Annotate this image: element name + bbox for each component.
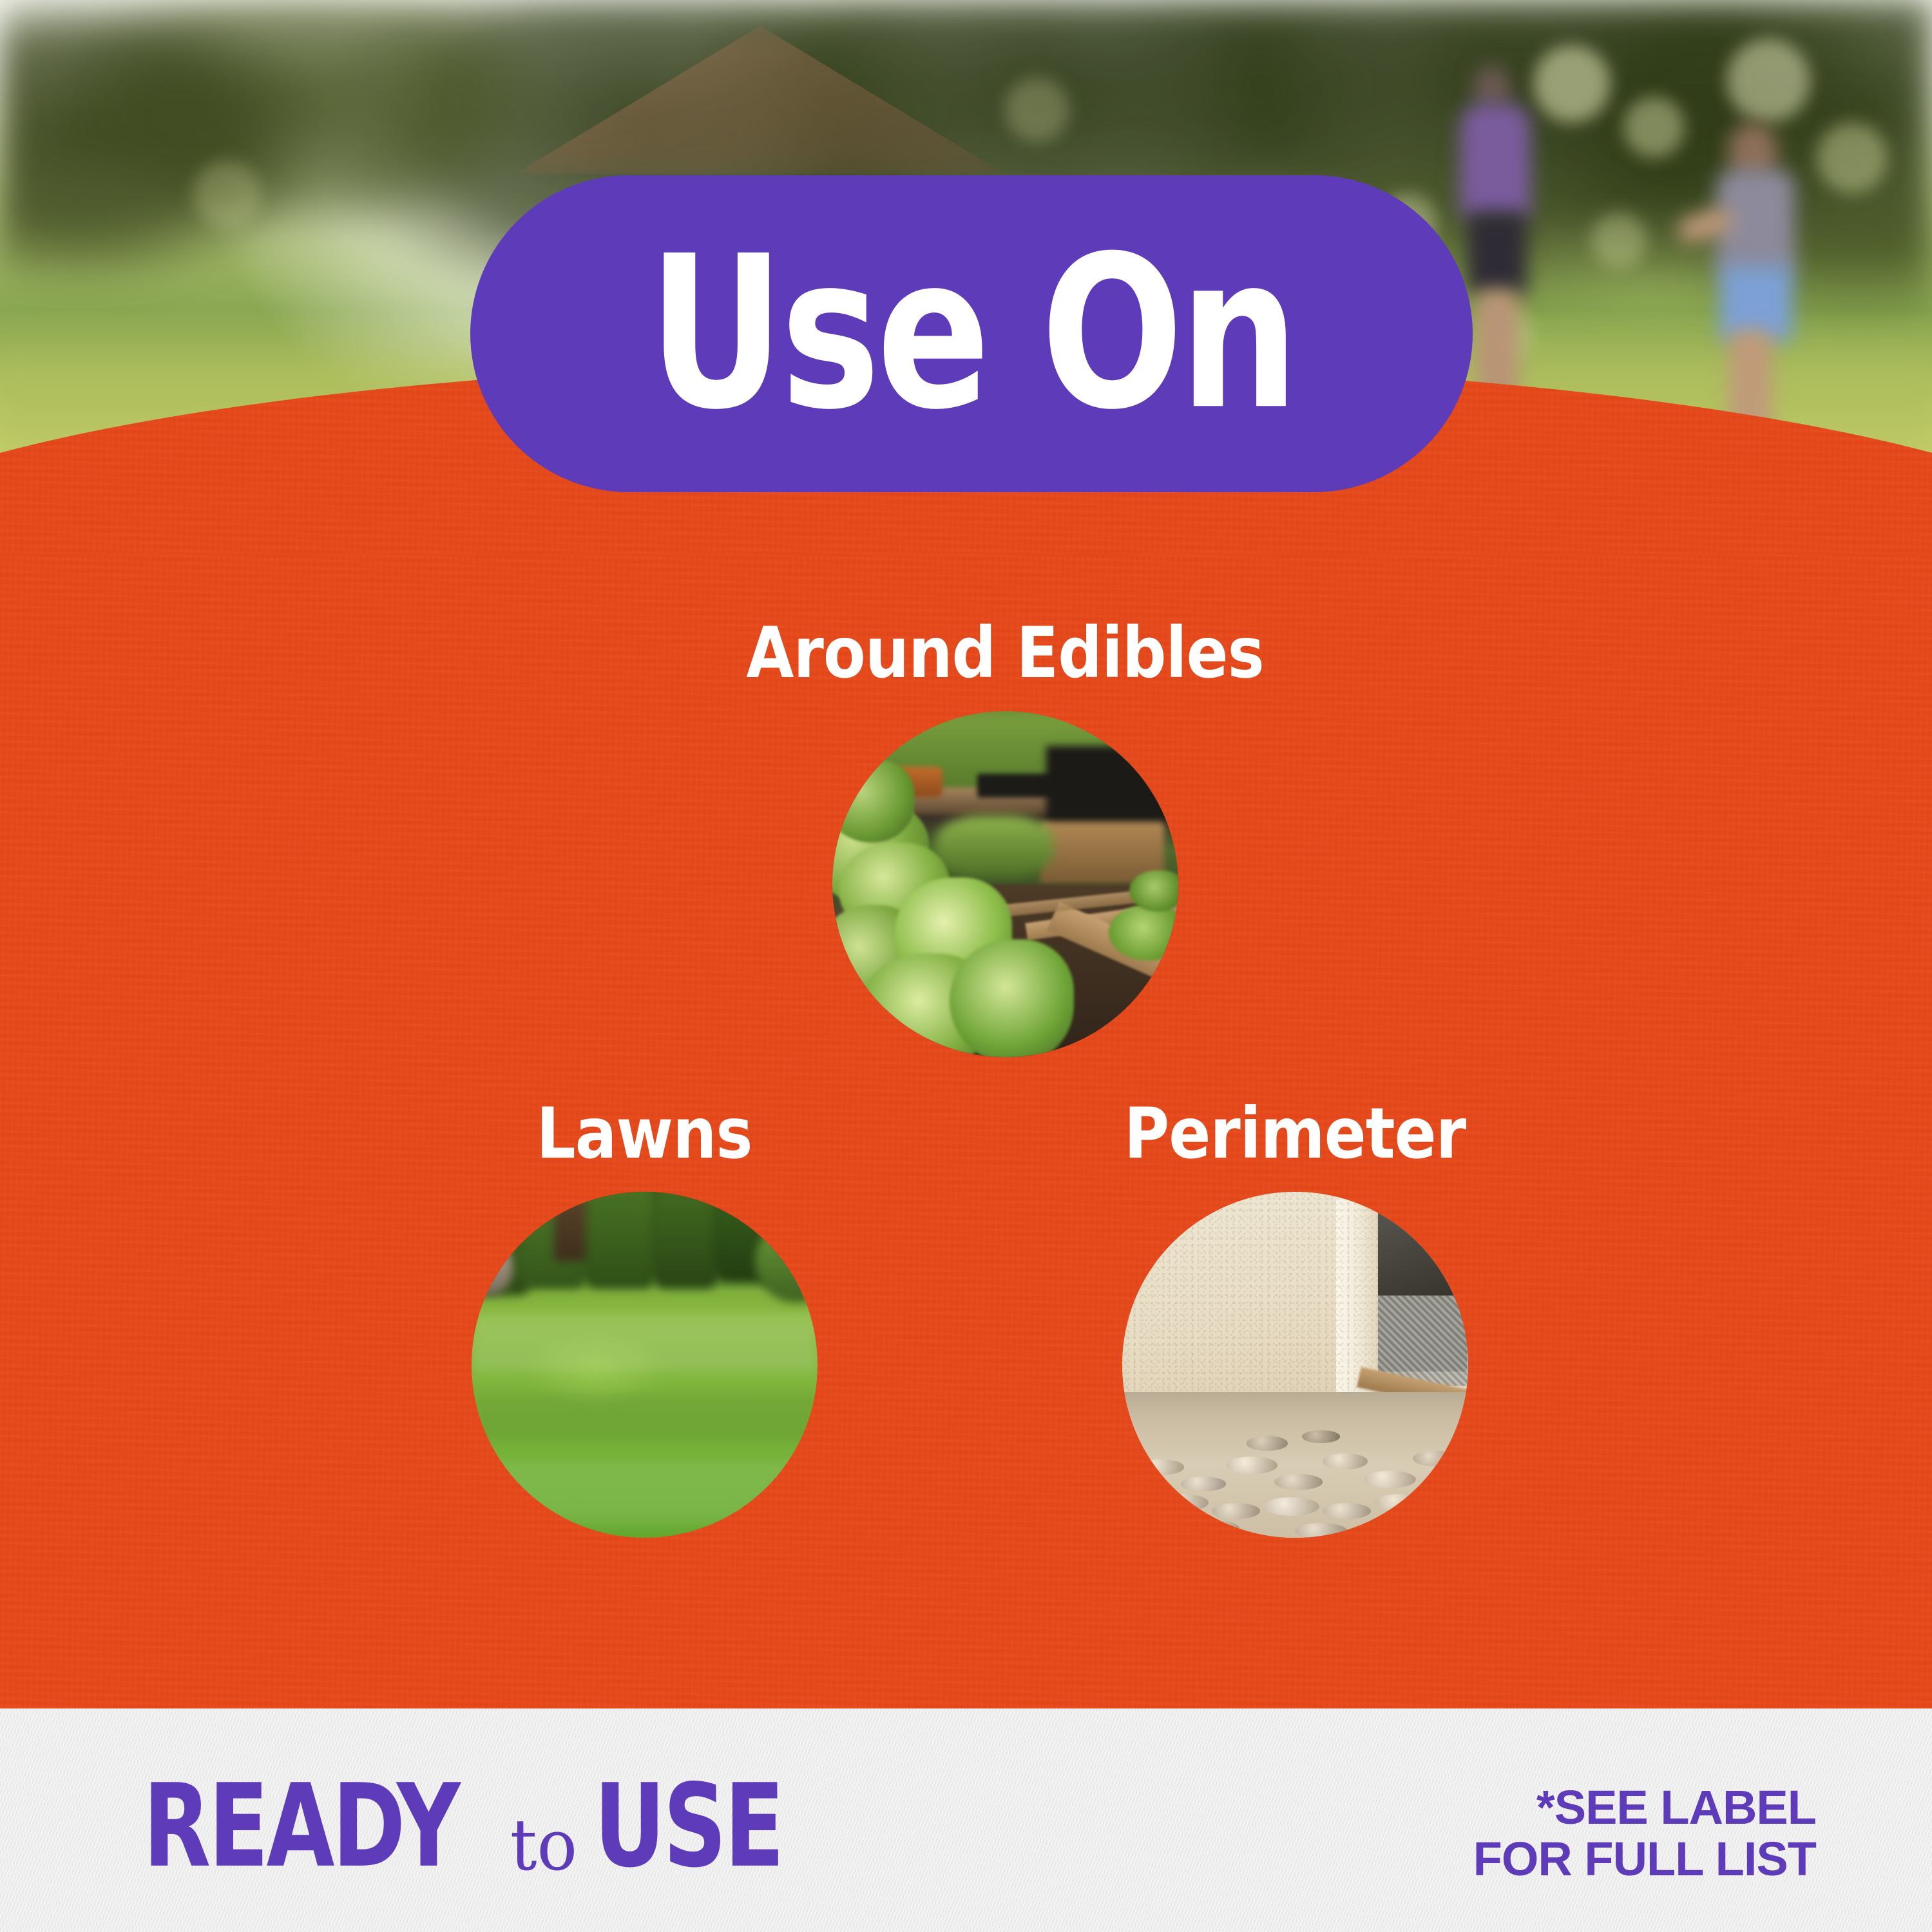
pebble [1129,1480,1170,1495]
ready-word: READY [143,1769,458,1884]
infographic-canvas: Use On Around Edibles [0,0,1932,1932]
bokeh-light [1817,122,1888,193]
vegetable-garden-image [832,711,1178,1057]
pebble [1226,1457,1278,1474]
see-label-disclaimer: *SEE LABEL FOR FULL LIST [1473,1782,1816,1885]
lawns-photo [472,1192,818,1538]
pebble [1212,1503,1260,1519]
lettuce-head [950,939,1074,1057]
use-on-item-label: Perimeter [1124,1099,1466,1169]
pebble [1413,1451,1458,1467]
lawn-mow-stripe [472,1462,818,1524]
pebble [1302,1430,1340,1443]
use-on-item-lawns: Lawns [303,1107,986,1538]
around-edibles-photo [832,711,1178,1057]
pebble [1136,1459,1184,1475]
bokeh-light [1726,39,1810,122]
pebble [1295,1523,1347,1538]
house-foundation-gravel-image [1122,1192,1468,1538]
tree-trunk [554,1192,585,1261]
adult-runner-silhouette [1460,103,1531,219]
pebble [1264,1497,1319,1516]
metal-grate [1378,1296,1468,1386]
use-on-badge-label: Use On [648,229,1295,439]
use-on-badge: Use On [470,175,1473,492]
background-dark-structure [1046,746,1178,822]
bokeh-light [1591,213,1647,268]
use-on-item-label: Lawns [536,1099,752,1169]
pebble [1364,1471,1416,1488]
pebble [1426,1486,1468,1502]
adult-runner-silhouette [1468,213,1527,296]
use-word: USE [594,1769,782,1884]
pebble [1247,1436,1288,1451]
bokeh-light [193,161,261,229]
use-on-item-around-edibles: Around Edibles [664,626,1346,1057]
use-on-item-label: Around Edibles [746,618,1264,688]
conifer-hedge [651,1192,720,1288]
pebble [1375,1494,1427,1511]
conifer-hedge [582,1192,658,1288]
to-word: to [493,1810,594,1880]
background-herbs [936,815,1054,877]
use-on-item-perimeter: Perimeter [953,1107,1636,1538]
ready-to-use-lockup: READY to USE [143,1786,803,1884]
lettuce-seedling [1109,905,1178,961]
pebble [1323,1453,1368,1469]
lawn-highlight [520,1330,672,1406]
disclaimer-line-1: *SEE LABEL [1473,1782,1816,1833]
bokeh-light [1533,45,1611,122]
bokeh-light [1623,97,1685,158]
green-lawn-image [472,1192,818,1538]
pebble [1181,1477,1226,1491]
perimeter-photo [1122,1192,1468,1538]
pebble [1191,1520,1239,1536]
bokeh-light [1005,77,1069,142]
pebble [1274,1474,1323,1490]
gravel-bed [1122,1392,1468,1538]
disclaimer-line-2: FOR FULL LIST [1473,1833,1816,1885]
pebble [1323,1503,1371,1519]
pebble [1156,1494,1209,1511]
lettuce-head [832,760,915,843]
